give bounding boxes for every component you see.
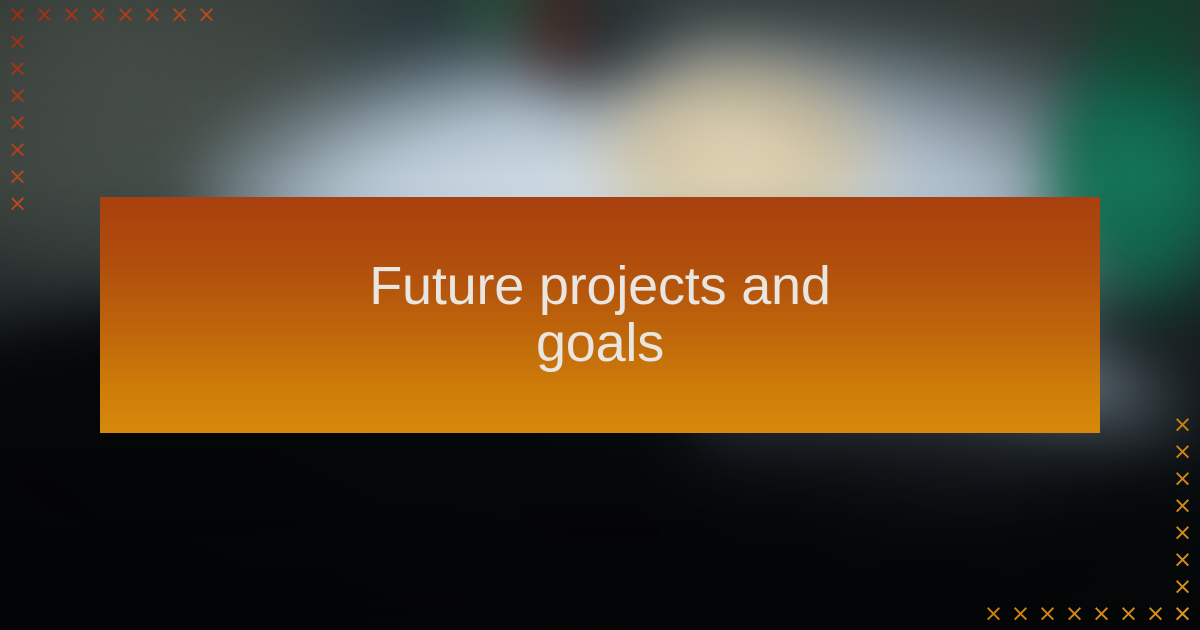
title-banner: Future projects and goals — [100, 197, 1100, 433]
social-card: ×××××××× ×××××××× ×××××××× ×××××××× Futu… — [0, 0, 1200, 630]
page-title: Future projects and goals — [340, 258, 860, 372]
